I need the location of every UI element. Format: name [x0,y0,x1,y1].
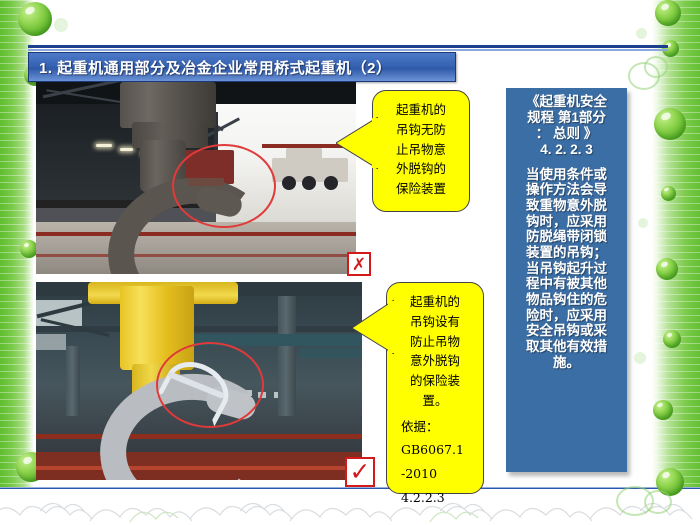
photo-truck-cab [286,148,322,160]
wave-pattern-icon [0,489,700,525]
status-badge-check: ✓ [345,457,375,487]
annotation-ellipse [172,144,276,228]
green-bubble-icon [638,218,648,228]
callout-non-compliant-tail [336,117,378,169]
callout-compliant: 起重机的 吊钩设有 防止吊物 意外脱钩 的保险装 置。 依据： GB6067.1… [386,282,484,494]
regulation-text-panel: 《起重机安全 规程 第1部分 ： 总则 》 4. 2. 2. 3 当使用条件或 … [506,88,627,472]
title-top-rule [28,45,668,48]
callout-non-compliant-text: 起重机的 吊钩无防 止吊物意 外脱钩的 保险装置 [373,91,469,199]
callout-standard-year: -2010 [387,460,483,484]
regulation-body: 当使用条件或 操作方法会导 致重物意外脱 钩时，应采用 防脱绳带闭锁 装置的吊钩… [510,167,623,371]
callout-compliant-tail [352,300,394,354]
callout-clause: 4.2.2.3 [387,484,483,508]
callout-compliant-text: 起重机的 吊钩设有 防止吊物 意外脱钩 的保险装 置。 [387,283,483,411]
photo-column [66,346,80,416]
page-title: 1. 起重机通用部分及冶金企业常用桥式起重机（2） [29,57,392,78]
annotation-ellipse [156,342,264,428]
cross-icon: ✗ [352,256,366,273]
callout-basis-label: 依据： [387,411,483,437]
photo-truck-wheel [282,176,296,190]
photo-truck-wheel [302,176,316,190]
status-badge-cross: ✗ [347,252,371,276]
right-green-stripe-decoration [652,0,700,495]
photo-window [36,334,66,350]
green-bubble-icon [54,18,68,32]
presentation-slide: 1. 起重机通用部分及冶金企业常用桥式起重机（2） [0,0,700,525]
green-bubble-icon [636,28,647,39]
callout-non-compliant: 起重机的 吊钩无防 止吊物意 外脱钩的 保险装置 [372,90,470,212]
callout-standard-code: GB6067.1 [387,436,483,460]
photo-non-compliant-hook [36,82,356,274]
bottom-wave-decoration [0,489,700,525]
slide-title-bar: 1. 起重机通用部分及冶金企业常用桥式起重机（2） [28,52,456,82]
regulation-heading: 《起重机安全 规程 第1部分 ： 总则 》 4. 2. 2. 3 [510,94,623,158]
check-icon: ✓ [350,460,371,485]
photo-truck-wheel [324,176,338,190]
photo-lamp [120,148,133,151]
green-bubble-icon [634,352,646,364]
photo-column [278,296,296,416]
photo-compliant-hook [36,282,362,480]
title-top-rule-secondary [28,49,668,51]
photo-lamp [96,144,112,147]
